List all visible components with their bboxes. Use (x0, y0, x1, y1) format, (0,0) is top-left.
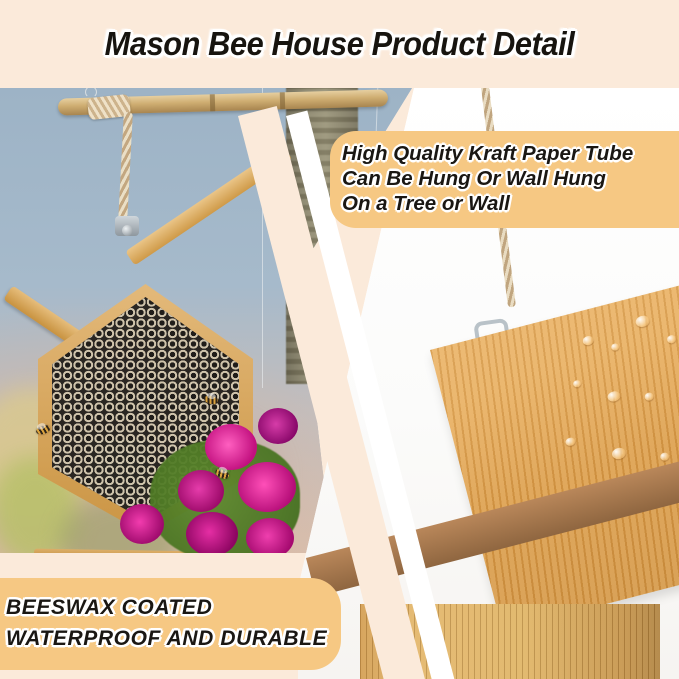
petunia-flower (186, 512, 238, 556)
callout-line: Can Be Hung Or Wall Hung (342, 166, 676, 191)
callout-line: BEESWAX COATED (6, 592, 325, 623)
callout-line: High Quality Kraft Paper Tube (342, 141, 676, 166)
product-detail-page: Mason Bee House Product Detail (0, 0, 679, 679)
pole-knot (280, 92, 285, 109)
title-bar: Mason Bee House Product Detail (0, 0, 679, 88)
page-title: Mason Bee House Product Detail (105, 25, 575, 63)
callout-line: WATERPROOF AND DURABLE (6, 623, 325, 654)
petunia-flower (258, 408, 298, 444)
house-front-wall (360, 604, 660, 679)
frame-bottom-edge (34, 549, 199, 558)
petunia-flower (246, 518, 294, 558)
wood-grain (360, 604, 660, 679)
petunia-flower (238, 462, 296, 512)
callout-line: On a Tree or Wall (342, 191, 676, 216)
pole-knot (210, 94, 215, 111)
beeswax-callout: BEESWAX COATED WATERPROOF AND DURABLE (0, 578, 341, 670)
kraft-tube-callout: High Quality Kraft Paper Tube Can Be Hun… (330, 131, 679, 228)
petunia-flower (205, 424, 257, 470)
petunia-flower (120, 504, 164, 544)
